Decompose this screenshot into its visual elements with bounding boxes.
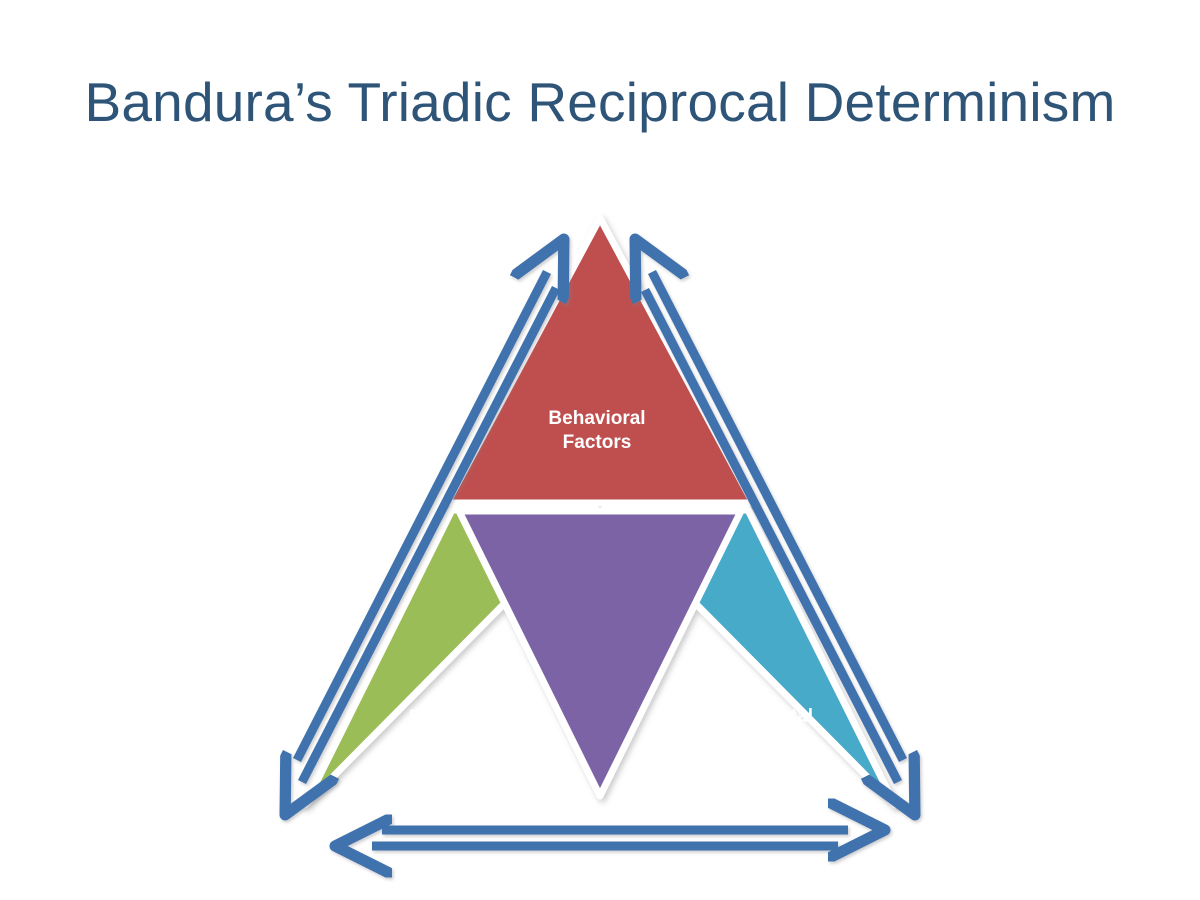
triad-diagram-svg: Behavioral Factors Personal Factors Envi… [0,0,1200,900]
slide-canvas: Bandura’s Triadic Reciprocal Determinism [0,0,1200,900]
segment-behavioral[interactable] [447,218,753,503]
triad-diagram: Behavioral Factors Personal Factors Envi… [0,0,1200,900]
label-environmental-line2: Factors [713,730,782,751]
label-environmental-line1: Environmental [681,706,813,727]
segment-center[interactable] [459,511,741,796]
arrow-personal-environmental[interactable] [372,830,848,846]
label-personal-line1: Personal [409,707,489,728]
label-behavioral-line2: Factors [563,432,632,453]
label-behavioral-line1: Behavioral [548,408,645,429]
segment-behavioral-shape[interactable] [447,218,753,503]
label-personal-line2: Factors [415,731,484,752]
segment-center-shape[interactable] [459,511,741,796]
